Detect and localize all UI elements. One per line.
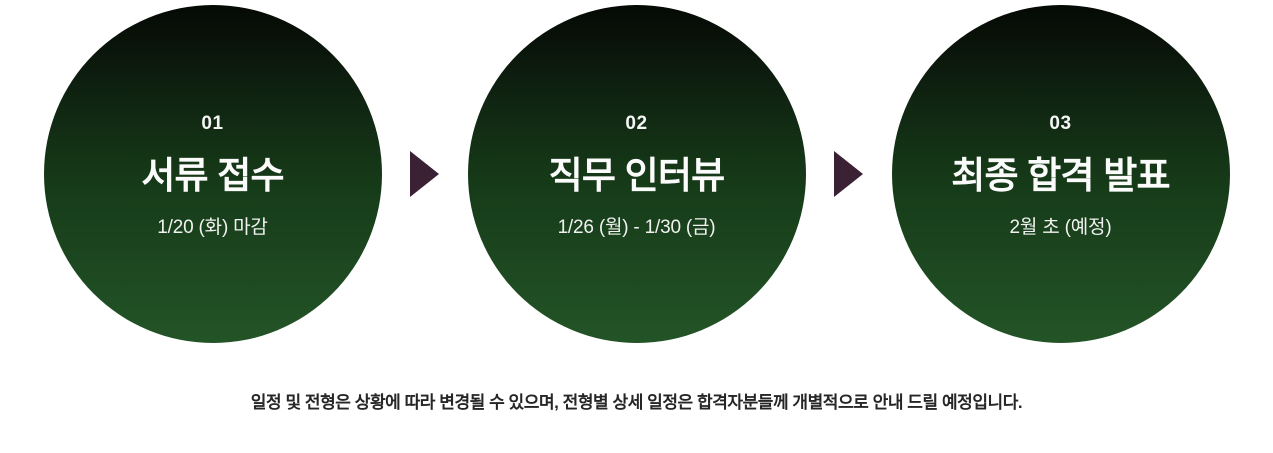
process-step-1-title: 서류 접수 [141, 155, 283, 196]
arrow-right-triangle-icon [410, 151, 439, 197]
process-step-1-content: 01 서류 접수 1/20 (화) 마감 [44, 108, 382, 239]
footnote-row: 일정 및 전형은 상황에 따라 변경될 수 있으며, 전형별 상세 일정은 합격… [0, 392, 1273, 414]
process-step-3-title: 최종 합격 발표 [951, 155, 1169, 196]
process-step-3-number: 03 [1049, 114, 1071, 133]
process-step-3-content: 03 최종 합격 발표 2월 초 (예정) [892, 108, 1230, 239]
process-steps-row: 01 서류 접수 1/20 (화) 마감 02 직무 인터뷰 1/26 (월) … [0, 0, 1273, 348]
process-step-1-date: 1/20 (화) 마감 [157, 217, 267, 240]
process-flow-diagram: 01 서류 접수 1/20 (화) 마감 02 직무 인터뷰 1/26 (월) … [0, 0, 1273, 453]
process-step-1-number: 01 [201, 114, 223, 133]
process-step-3[interactable]: 03 최종 합격 발표 2월 초 (예정) [892, 5, 1230, 343]
process-step-1[interactable]: 01 서류 접수 1/20 (화) 마감 [44, 5, 382, 343]
process-connector-2 [806, 5, 892, 343]
process-step-2-number: 02 [625, 114, 647, 133]
process-step-2-title: 직무 인터뷰 [549, 155, 725, 196]
process-footnote: 일정 및 전형은 상황에 따라 변경될 수 있으며, 전형별 상세 일정은 합격… [251, 392, 1022, 414]
process-step-2-content: 02 직무 인터뷰 1/26 (월) - 1/30 (금) [468, 108, 806, 239]
process-step-2-date: 1/26 (월) - 1/30 (금) [558, 217, 716, 240]
arrow-right-triangle-icon [834, 151, 863, 197]
process-connector-1 [382, 5, 468, 343]
process-step-3-date: 2월 초 (예정) [1010, 217, 1112, 240]
process-step-2[interactable]: 02 직무 인터뷰 1/26 (월) - 1/30 (금) [468, 5, 806, 343]
